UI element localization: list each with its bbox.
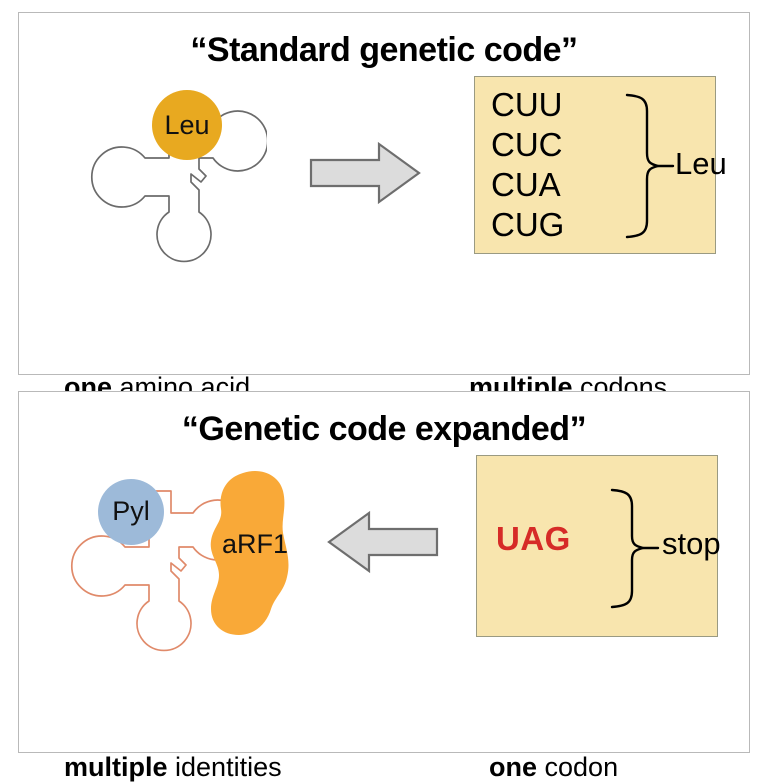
codon-item-uag: UAG (496, 520, 571, 558)
panel-standard-genetic-code: “Standard genetic code” Leu (18, 12, 750, 375)
panel-title-expanded: “Genetic code expanded” (19, 410, 749, 449)
arrow-right-icon (307, 138, 423, 213)
amino-acid-bubble-pyl: Pyl (98, 479, 164, 545)
caption-bold: one (489, 752, 537, 782)
curly-brace-icon (610, 486, 660, 616)
codon-box-leu: CUU CUC CUA CUG Leu (474, 76, 716, 254)
brace-label-stop: stop (662, 526, 721, 562)
panel-body-standard: Leu CUU CUC CUA CUG (19, 76, 749, 286)
amino-acid-bubble-leu: Leu (152, 90, 222, 160)
codon-item: CUG (491, 205, 564, 245)
amino-acid-label-pyl: Pyl (112, 496, 150, 527)
codon-box-uag: UAG stop (476, 455, 718, 637)
codon-list-leu: CUU CUC CUA CUG (491, 85, 564, 245)
brace-path (612, 490, 643, 607)
caption-bold: multiple (64, 752, 168, 782)
curly-brace-icon (625, 91, 675, 246)
arrow-shape (329, 513, 437, 571)
codon-item: CUC (491, 125, 564, 165)
caption-rest: identities (168, 752, 282, 782)
caption-rest: codon (537, 752, 618, 782)
panel-genetic-code-expanded: “Genetic code expanded” Pyl aRF1 (18, 391, 750, 754)
protein-label-arf1: aRF1 (222, 529, 288, 560)
panel-title-standard: “Standard genetic code” (19, 31, 749, 70)
brace-label-leu: Leu (675, 146, 727, 182)
codon-item: CUA (491, 165, 564, 205)
amino-acid-label-leu: Leu (164, 110, 209, 141)
arrow-shape (311, 144, 419, 202)
panel-body-expanded: Pyl aRF1 UAG (19, 455, 749, 665)
genetic-code-figure: “Standard genetic code” Leu (0, 0, 768, 761)
caption-one-codon: one codon (489, 752, 618, 783)
brace-path (627, 95, 658, 237)
caption-multiple-identities: multiple identities (64, 752, 282, 783)
codon-item: CUU (491, 85, 564, 125)
arrow-left-icon (325, 507, 441, 582)
